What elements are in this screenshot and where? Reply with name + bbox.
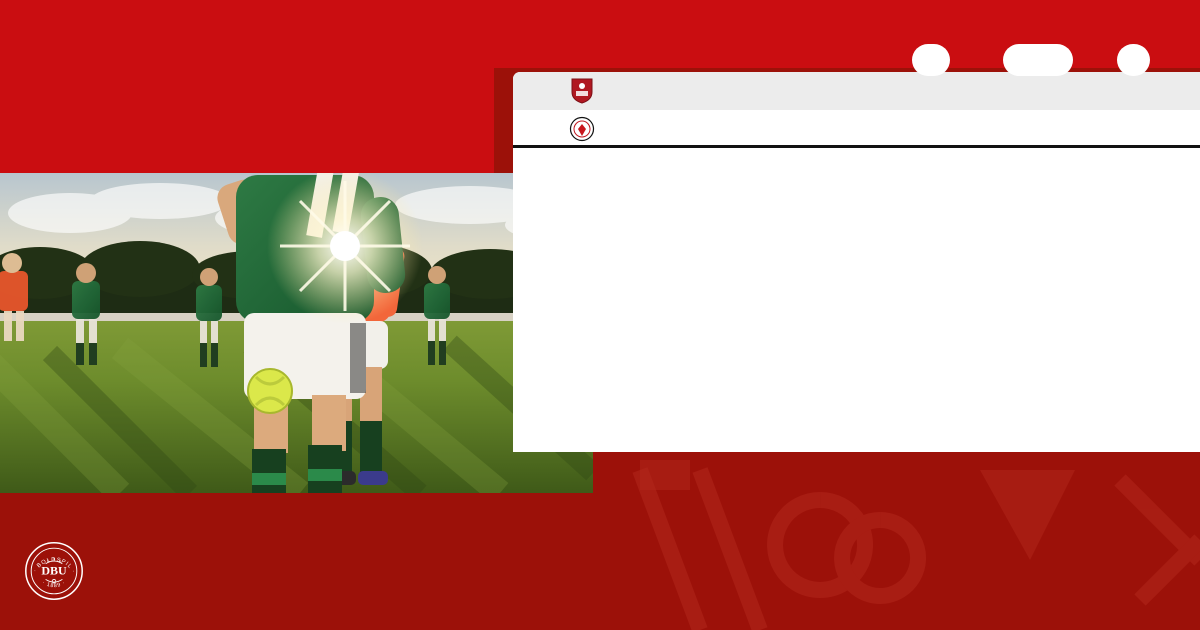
column-header-score: [1003, 44, 1073, 76]
svg-text:DBU: DBU: [41, 564, 67, 578]
union-crest-icon: [561, 77, 603, 105]
dbu-roundel-logo: DANSK · BOLDSPIL · UNION · 1889 · DBU: [24, 541, 84, 601]
standings-table: [513, 72, 1200, 452]
column-header-p: [1117, 44, 1150, 76]
page-title-block: [24, 18, 484, 27]
photo-illustration: [0, 173, 593, 493]
table-row[interactable]: [513, 110, 1200, 148]
table-column-headers: [513, 44, 1200, 76]
column-header-k: [912, 44, 950, 76]
svg-text:· 1889 ·: · 1889 ·: [41, 580, 67, 589]
osterbro-crest-icon: [561, 115, 603, 143]
football-match-photo: [0, 173, 593, 493]
table-row[interactable]: [513, 72, 1200, 110]
footer: DANSK · BOLDSPIL · UNION · 1889 · DBU: [0, 495, 1200, 630]
